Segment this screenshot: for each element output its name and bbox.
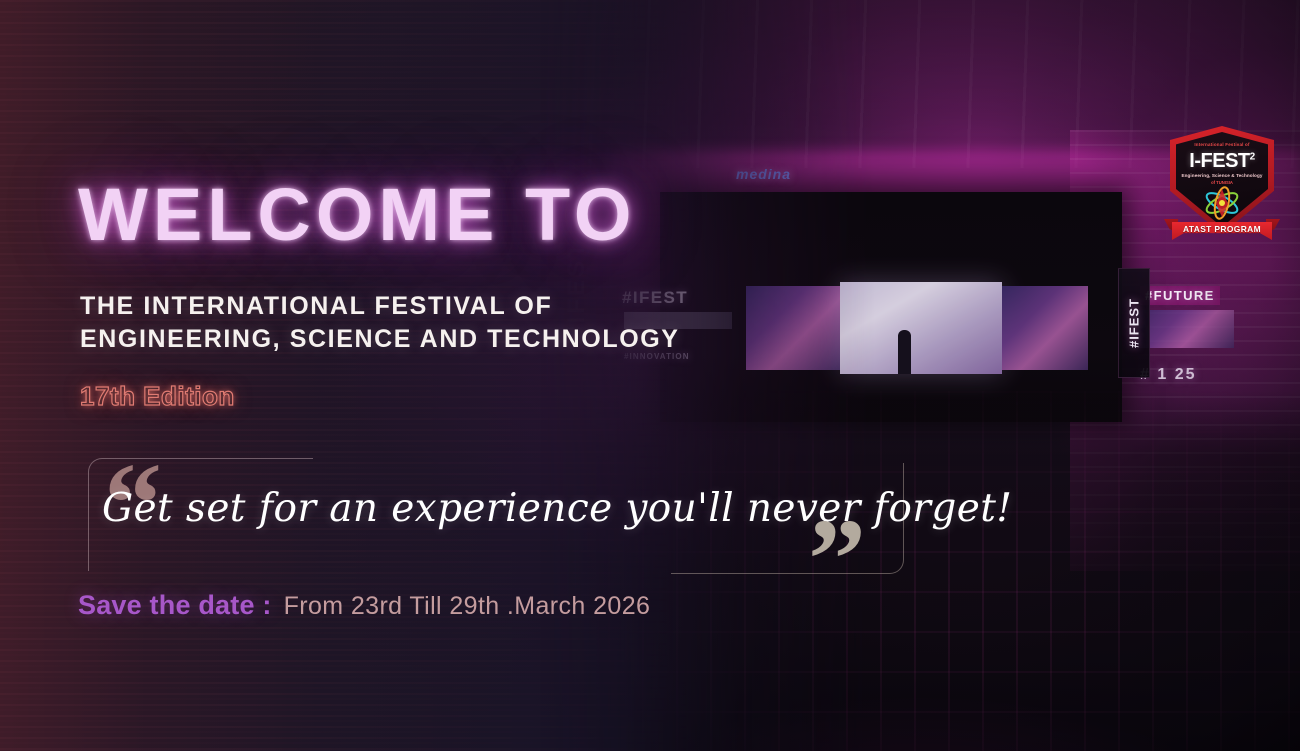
atom-icon (1201, 186, 1243, 220)
badge-ribbon: ATAST PROGRAM (1164, 218, 1280, 244)
badge-pretext: International Festival of (1163, 142, 1281, 147)
save-date-value: From 23rd Till 29th .March 2026 (284, 592, 651, 621)
banner-canvas: #IFEST medina #IFEST #INNOVATION #FUTURE… (0, 0, 1300, 751)
quote-text: Get set for an experience you'll never f… (102, 486, 902, 531)
save-the-date: Save the date : From 23rd Till 29th .Mar… (78, 590, 650, 621)
quote-close-mark: ” (808, 502, 866, 618)
badge-title: I-FEST2 (1164, 150, 1280, 173)
badge-title-text: I-FEST (1189, 150, 1249, 172)
badge-subtitle: Engineering, Science & Technology (1164, 173, 1280, 178)
ifest-badge[interactable]: International Festival of I-FEST2 Engine… (1164, 126, 1280, 258)
edition-label: 17th Edition (80, 381, 235, 412)
banner-content: WELCOME TO THE INTERNATIONAL FESTIVAL OF… (78, 0, 938, 751)
badge-subtitle-secondary: of TUNISIA (1164, 180, 1280, 185)
festival-subtitle: THE INTERNATIONAL FESTIVAL OF ENGINEERIN… (80, 290, 700, 357)
badge-title-superscript: 2 (1250, 151, 1255, 162)
ribbon-label: ATAST PROGRAM (1164, 224, 1280, 234)
quote-block: “ Get set for an experience you'll never… (78, 448, 908, 580)
headline: WELCOME TO (78, 178, 636, 252)
save-date-label: Save the date : (78, 590, 272, 621)
